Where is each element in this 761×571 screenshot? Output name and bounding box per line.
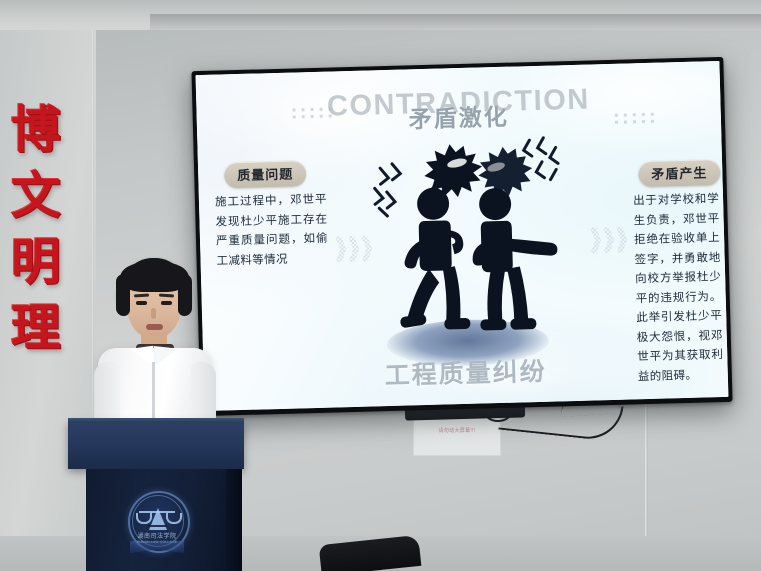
- left-panel-body-text: 施工过程中，邓世平发现杜少平施工存在严重质量问题，如偷工减料等情况: [215, 190, 329, 271]
- display-panel: CONTRADICTION 矛盾激化 质量问题 施工过程中，邓世平发现杜少平施工…: [196, 61, 729, 411]
- dot-grid-right-decoration: [615, 113, 654, 124]
- arguing-figures-illustration: [365, 125, 564, 380]
- stick-figure-right: [465, 185, 561, 335]
- presentation-slide: CONTRADICTION 矛盾激化 质量问题 施工过程中，邓世平发现杜少平施工…: [196, 61, 729, 411]
- podium-side-panel: [226, 469, 242, 571]
- law-school-emblem: 湖南司法学院 HUNAN LAW COLLEGE: [122, 491, 192, 561]
- presenter-eye-left: [136, 301, 147, 305]
- presenter-hair-side-left: [116, 274, 130, 316]
- dot-grid-left-decoration: [292, 107, 331, 118]
- warning-sign-text: 请勿动大屏幕!!!: [418, 427, 496, 434]
- motto-char-2: 文: [11, 170, 61, 222]
- presenter-nose: [151, 308, 156, 319]
- chevron-right-decoration: [590, 227, 628, 254]
- emblem-name-en: HUNAN LAW COLLEGE: [130, 540, 184, 544]
- wall-display[interactable]: CONTRADICTION 矛盾激化 质量问题 施工过程中，邓世平发现杜少平施工…: [191, 57, 732, 416]
- school-motto-banner: 博 文 明 理: [2, 104, 70, 354]
- emblem-name-cn: 湖南司法学院: [130, 531, 184, 540]
- badge-quality-issue: 质量问题: [224, 160, 307, 188]
- motto-char-3: 明: [11, 236, 61, 288]
- badge-conflict-origin: 矛盾产生: [638, 159, 721, 187]
- podium-desktop: [68, 421, 244, 469]
- presenter-mouth: [146, 324, 163, 330]
- classroom-scene: 博 文 明 理 请勿动大屏幕!!! CONTRADICTION 矛盾激化: [0, 0, 761, 571]
- emblem-letter-a-bar: [147, 525, 167, 527]
- presenter-eye-right: [161, 301, 172, 305]
- presenter-hair-side-right: [178, 274, 192, 316]
- chevron-left-decoration: [335, 235, 373, 262]
- motto-char-1: 博: [11, 104, 61, 156]
- motto-char-4: 理: [11, 302, 61, 354]
